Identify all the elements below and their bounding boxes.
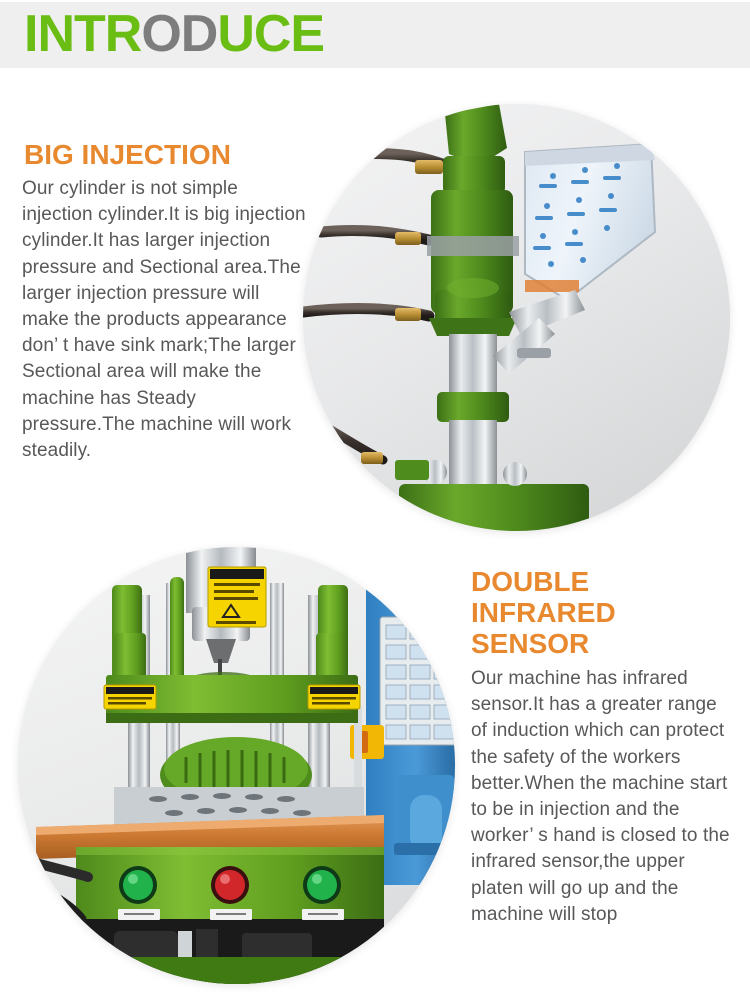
button-red-center [211,866,249,904]
injection-machine-photo [18,547,455,984]
injection-cylinder-illustration [303,104,730,531]
injection-cylinder-photo [303,104,730,531]
big-injection-body: Our cylinder is not simple injection cyl… [22,176,307,464]
page-title-part-2: OD [141,5,217,63]
upper-platen [104,675,360,723]
double-infrared-sensor-body: Our machine has infrared sensor.It has a… [471,666,733,928]
danger-label [208,567,266,627]
button-green-left [119,866,157,904]
injection-machine-illustration [18,547,455,984]
button-green-right [303,866,341,904]
introduce-page: INTRODUCE BIG INJECTION Our cylinder is … [0,0,750,1000]
page-title-part-3: UCE [217,5,324,63]
big-injection-heading: BIG INJECTION [24,139,314,170]
page-title-part-1: INTR [24,5,141,63]
notice-label-left [104,685,156,709]
page-title: INTRODUCE [24,5,324,63]
double-infrared-sensor-heading: DOUBLE INFRARED SENSOR [471,566,741,659]
notice-label-right [308,685,360,709]
